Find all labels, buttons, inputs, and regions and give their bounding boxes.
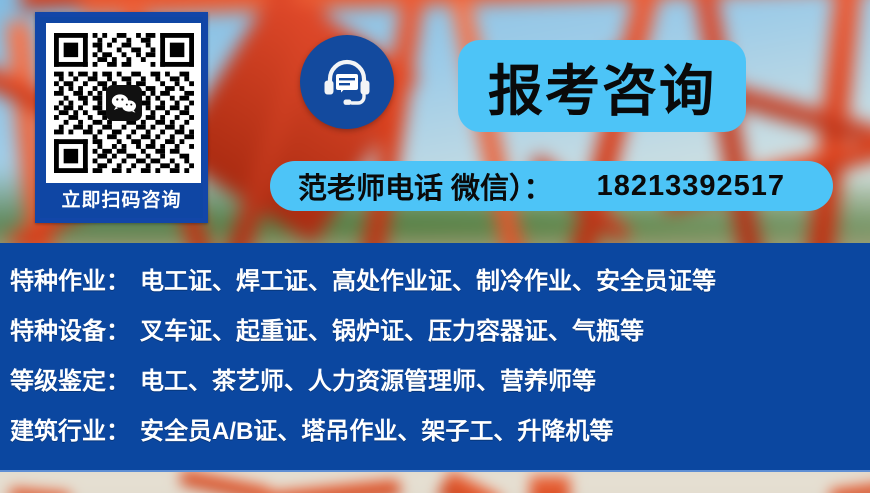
phone-label: 范老师电话 微信）： [298,165,553,207]
qr-code-card[interactable]: 立即扫码咨询 [35,12,208,223]
category-items: 安全员A/B证、塔吊作业、架子工、升降机等 [140,411,613,446]
footer-blur-layer [0,472,870,493]
category-items: 叉车证、起重证、锅炉证、压力容器证、气瓶等 [140,311,644,346]
category-row: 特种作业： 电工证、焊工证、高处作业证、制冷作业、安全员证等 [10,261,870,311]
qr-code-surface [46,23,201,183]
wechat-logo-icon [106,85,142,121]
title-pill: 报考咨询 [458,40,746,132]
qr-card-caption: 立即扫码咨询 [40,186,203,216]
category-label: 特种作业： [10,261,130,296]
category-row: 建筑行业： 安全员A/B证、塔吊作业、架子工、升降机等 [10,411,870,461]
category-row: 等级鉴定： 电工、茶艺师、人力资源管理师、营养师等 [10,361,870,411]
title-text: 报考咨询 [488,46,716,126]
category-label: 特种设备： [10,311,130,346]
headset-support-badge [300,35,394,129]
promo-poster: 立即扫码咨询 报考咨询 范老师电话 微信）： 18213392517 特种作业：… [0,0,870,493]
phone-number[interactable]: 18213392517 [597,170,785,203]
category-items: 电工、茶艺师、人力资源管理师、营养师等 [140,361,596,396]
certificate-categories-panel: 特种作业： 电工证、焊工证、高处作业证、制冷作业、安全员证等 特种设备： 叉车证… [0,243,870,472]
category-row: 特种设备： 叉车证、起重证、锅炉证、压力容器证、气瓶等 [10,311,870,361]
phone-pill[interactable]: 范老师电话 微信）： 18213392517 [270,161,833,211]
category-items: 电工证、焊工证、高处作业证、制冷作业、安全员证等 [140,261,716,296]
category-label: 建筑行业： [10,411,130,446]
footer-photo-strip [0,472,870,493]
headset-support-icon [319,54,375,110]
category-label: 等级鉴定： [10,361,130,396]
